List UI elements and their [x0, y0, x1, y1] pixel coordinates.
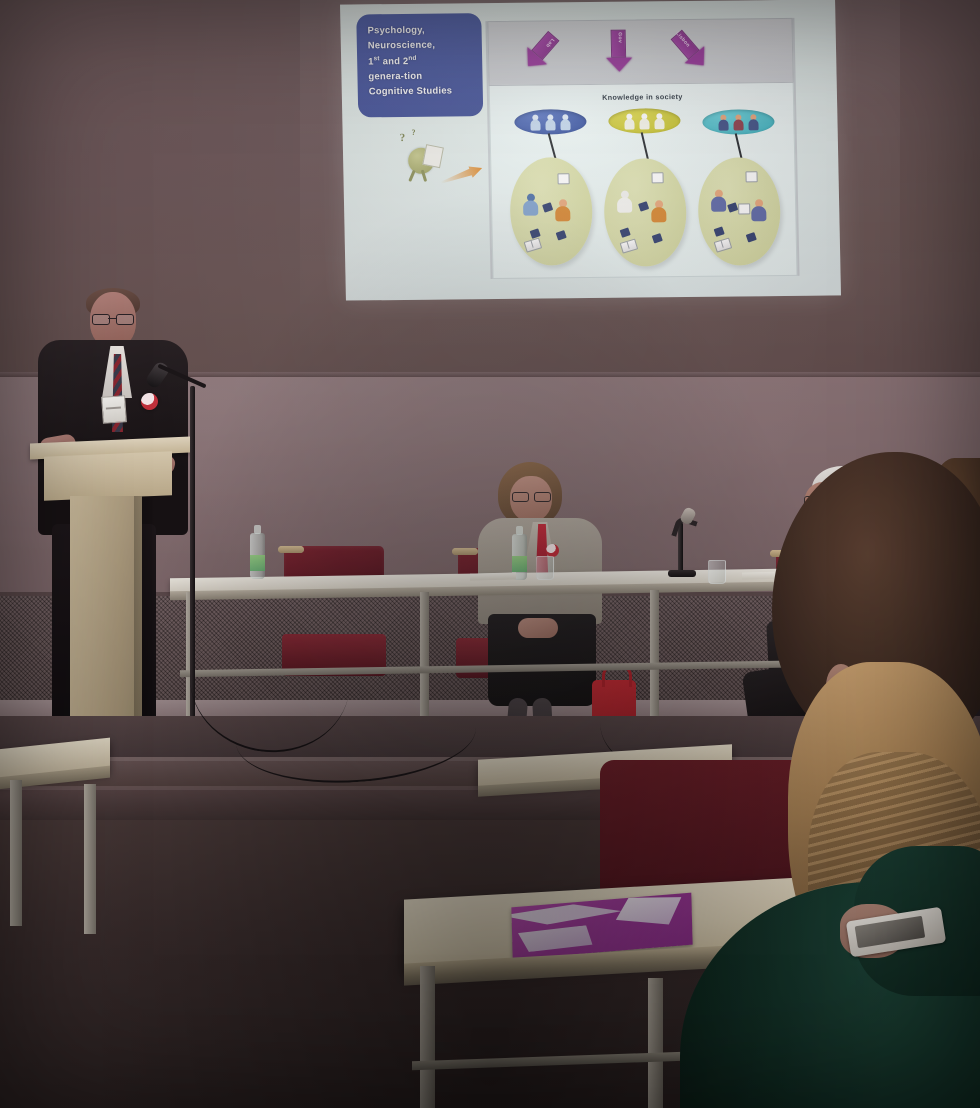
document-icon — [738, 203, 750, 214]
slate-icon — [746, 232, 757, 242]
slate-icon — [620, 227, 631, 237]
person-icon — [732, 114, 744, 130]
glasses-icon — [512, 492, 550, 500]
person-icon-citizen — [554, 199, 571, 221]
group-ellipse-yellow — [608, 108, 681, 134]
document-icon — [651, 172, 663, 183]
slide-title-line-1: Psychology, — [367, 22, 473, 38]
person-icon — [717, 114, 729, 130]
book-icon — [714, 238, 733, 253]
slide-title-line-3: 1st and 2nd — [368, 51, 474, 69]
desk-leg — [10, 780, 22, 926]
slate-icon — [714, 226, 725, 236]
projected-slide: Psychology, Neuroscience, 1st and 2nd ge… — [340, 0, 841, 301]
book-icon — [524, 238, 543, 253]
group-ellipse-cyan — [702, 109, 775, 135]
community-oval-1 — [509, 157, 593, 266]
group-ellipse-blue — [514, 109, 587, 135]
desk-leg — [84, 784, 96, 934]
slide-title-box: Psychology, Neuroscience, 1st and 2nd ge… — [356, 13, 483, 117]
conference-photo: Psychology, Neuroscience, 1st and 2nd ge… — [0, 0, 980, 1108]
diagram-body: Knowledge in society — [489, 83, 798, 279]
papers — [470, 572, 516, 580]
slide-title-line-2: Neuroscience, — [368, 37, 474, 53]
document-icon — [745, 171, 757, 182]
person-icon-teacher — [710, 190, 727, 212]
person-icon-researcher — [522, 194, 539, 216]
slide-title-line-4: genera-tion — [368, 68, 474, 84]
question-mark-icon: ? — [400, 132, 406, 144]
slate-icon — [556, 230, 567, 240]
name-badge — [101, 395, 127, 424]
drinking-glass — [536, 556, 554, 580]
question-mark-icon: ? — [412, 128, 416, 137]
person-icon — [747, 114, 759, 130]
person-icon — [638, 113, 650, 129]
purple-arrow-icon-right: Lisbon — [671, 28, 711, 70]
arrow-label-right: Lisbon — [669, 25, 696, 55]
slide-title-line-5: Cognitive Studies — [369, 83, 475, 99]
foreground-audience-member — [640, 452, 980, 1108]
arrow-label-middle: Gov — [616, 21, 623, 55]
document-icon — [557, 173, 569, 184]
arrow-label-left: Lab — [536, 28, 563, 57]
hands — [518, 618, 558, 638]
person-icon — [653, 113, 665, 129]
slate-icon — [652, 233, 663, 243]
person-icon — [623, 113, 635, 129]
thinking-character-icon: ? ? — [398, 131, 451, 184]
purple-arrow-icon-left: Lab — [522, 31, 561, 72]
desk-leg — [420, 966, 435, 1108]
slide-diagram: Lab Gov Lisbon Knowledge in society — [485, 18, 799, 279]
slate-icon — [542, 202, 553, 212]
book-icon — [620, 239, 639, 254]
knowledge-caption: Knowledge in society — [490, 91, 795, 103]
slate-icon — [638, 201, 649, 211]
community-oval-2 — [603, 158, 687, 267]
person-icon-citizen — [650, 200, 667, 222]
person-icon-citizen — [750, 199, 767, 221]
slate-icon — [727, 202, 738, 212]
person-icon — [529, 114, 541, 130]
purple-arrow-icon-middle: Gov — [611, 30, 629, 72]
person-icon — [544, 114, 556, 130]
person-icon — [559, 114, 571, 130]
water-bottle — [250, 533, 265, 579]
person-icon-expert — [616, 191, 633, 213]
glasses-icon — [92, 314, 134, 323]
arrow-band: Lab Gov Lisbon — [487, 18, 793, 86]
community-oval-3 — [697, 157, 781, 266]
